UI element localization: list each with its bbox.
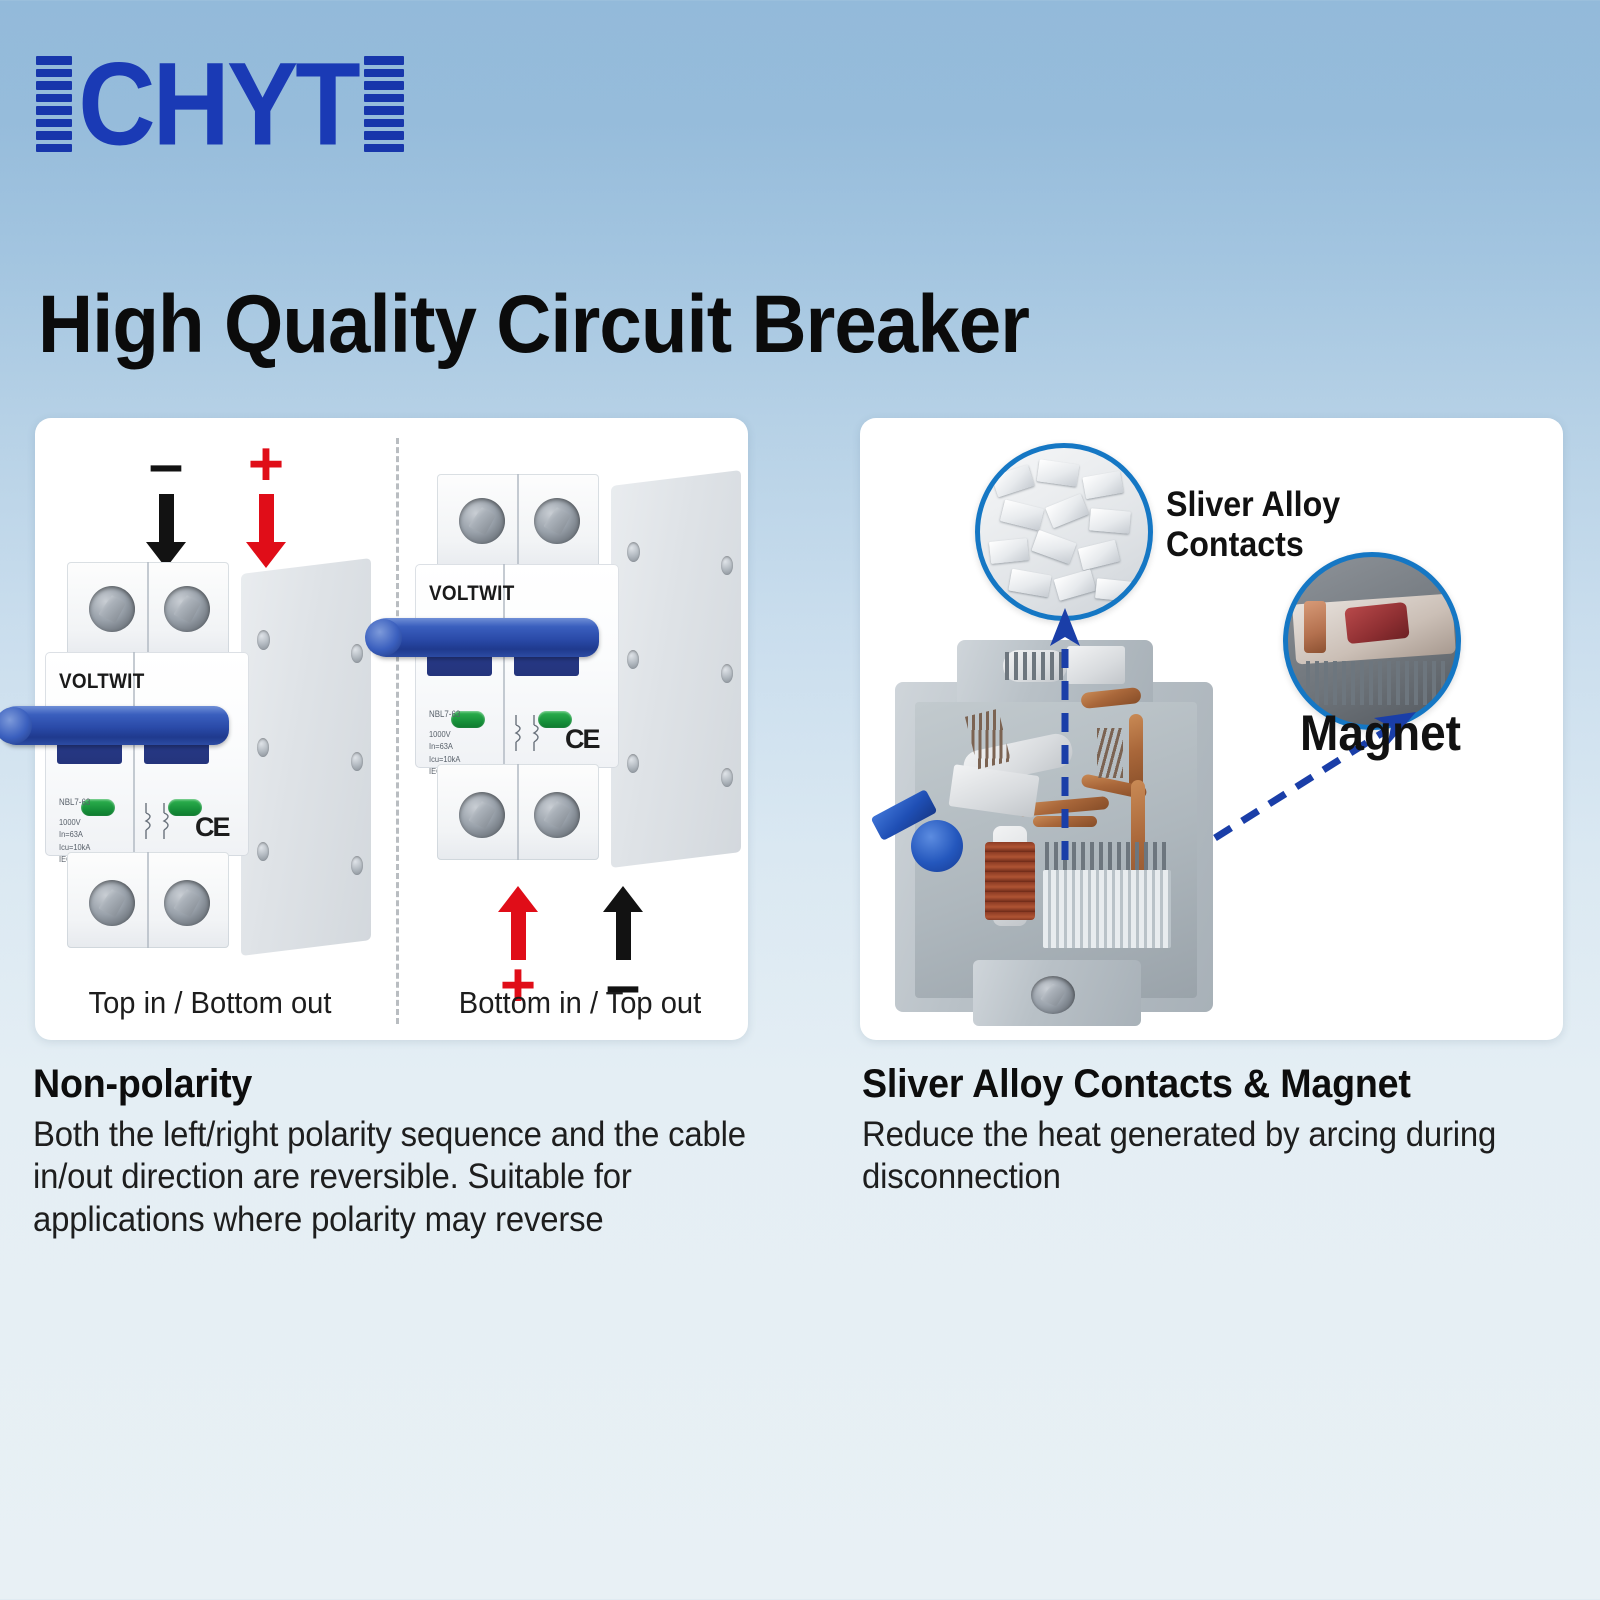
- logo-bar-pattern-left: [36, 54, 72, 154]
- label-line: Sliver Alloy: [1166, 485, 1340, 525]
- side-screw: [721, 556, 733, 575]
- feature-heading: Sliver Alloy Contacts & Magnet: [862, 1062, 1600, 1107]
- panel-divider: [396, 438, 399, 1024]
- arrow-head: [603, 886, 643, 912]
- breaker-model-text: NBL7-63: [429, 708, 460, 721]
- spec-line: In=63A: [429, 740, 483, 752]
- top-terminal-block: [67, 562, 229, 658]
- arrow-head-contacts: [1050, 608, 1080, 646]
- feature-heading: Non-polarity: [33, 1062, 776, 1107]
- arrow-head: [498, 886, 538, 912]
- breaker-brand-label: VOLTWIT: [429, 582, 515, 606]
- wiring-schematic-icon: [510, 711, 544, 760]
- plus-sign: +: [248, 443, 284, 488]
- side-screw: [351, 644, 363, 663]
- arrow-shaft: [259, 494, 274, 542]
- magnet-label: Magnet: [1300, 705, 1461, 762]
- ce-mark: CE: [565, 724, 599, 755]
- side-screw: [351, 856, 363, 875]
- arrow-shaft: [159, 494, 174, 542]
- schematic-svg: [510, 711, 544, 755]
- pole-separator: [517, 474, 519, 570]
- circuit-breaker-device-b: VOLTWIT NBL7-63 1000V In=63A Icu=10kA IE…: [415, 468, 745, 878]
- feature-contacts-magnet: Sliver Alloy Contacts & Magnet Reduce th…: [862, 1062, 1600, 1199]
- terminal-hole: [89, 880, 135, 926]
- circuit-breaker-device-a: VOLTWIT NBL7-63 1000V In=63A Icu=10kA IE…: [45, 556, 375, 966]
- feature-non-polarity: Non-polarity Both the left/right polarit…: [33, 1062, 823, 1242]
- logo-wordmark: CHYT: [78, 45, 357, 163]
- spec-line: 1000V: [59, 816, 113, 828]
- polarity-mark-negative-down: –: [146, 443, 186, 568]
- brand-logo: CHYT: [36, 48, 404, 160]
- terminal-hole: [164, 880, 210, 926]
- side-screw: [627, 754, 639, 773]
- side-screw: [721, 664, 733, 683]
- label-line: Contacts: [1166, 525, 1340, 565]
- page-title: High Quality Circuit Breaker: [38, 283, 1340, 367]
- side-screw: [257, 842, 269, 861]
- wiring-schematic-icon: [140, 799, 174, 847]
- spec-line: In=63A: [59, 828, 113, 840]
- schematic-svg: [140, 799, 174, 843]
- terminal-hole: [89, 586, 135, 632]
- side-screw: [627, 650, 639, 669]
- diagram-a-caption: Top in / Bottom out: [50, 985, 370, 1021]
- breaker-front-face: VOLTWIT NBL7-63 1000V In=63A Icu=10kA IE…: [415, 564, 619, 768]
- logo-bar-pattern-right: [364, 54, 404, 154]
- ce-mark: CE: [195, 812, 229, 843]
- terminal-hole: [534, 792, 580, 838]
- terminal-hole: [459, 792, 505, 838]
- pole-separator: [147, 562, 149, 658]
- polarity-mark-positive-down: +: [246, 443, 286, 568]
- top-terminal-block: [437, 474, 599, 570]
- side-screw: [257, 630, 270, 650]
- bottom-terminal-block: [67, 852, 229, 948]
- breaker-front-face: VOLTWIT NBL7-63 1000V In=63A Icu=10kA IE…: [45, 652, 249, 856]
- toggle-lever[interactable]: [1, 706, 229, 745]
- toggle-lever[interactable]: [371, 618, 599, 657]
- terminal-hole: [459, 498, 505, 544]
- pole-separator: [517, 764, 519, 860]
- terminal-hole: [164, 586, 210, 632]
- spec-line: 1000V: [429, 728, 483, 740]
- side-screw: [351, 752, 363, 771]
- breaker-brand-label: VOLTWIT: [59, 670, 145, 694]
- pole-separator: [147, 852, 149, 948]
- side-screw: [627, 542, 640, 562]
- feature-body: Both the left/right polarity sequence an…: [33, 1114, 776, 1242]
- side-screw: [721, 768, 733, 787]
- silver-alloy-contacts-label: Sliver Alloy Contacts: [1166, 485, 1340, 564]
- bottom-terminal-block: [437, 764, 599, 860]
- diagram-b-caption: Bottom in / Top out: [420, 985, 740, 1021]
- feature-body: Reduce the heat generated by arcing duri…: [862, 1114, 1600, 1199]
- side-screw: [257, 738, 269, 757]
- toggle-lever-cap[interactable]: [365, 619, 402, 656]
- breaker-model-text: NBL7-63: [59, 796, 90, 809]
- minus-sign: –: [149, 443, 183, 488]
- terminal-hole: [534, 498, 580, 544]
